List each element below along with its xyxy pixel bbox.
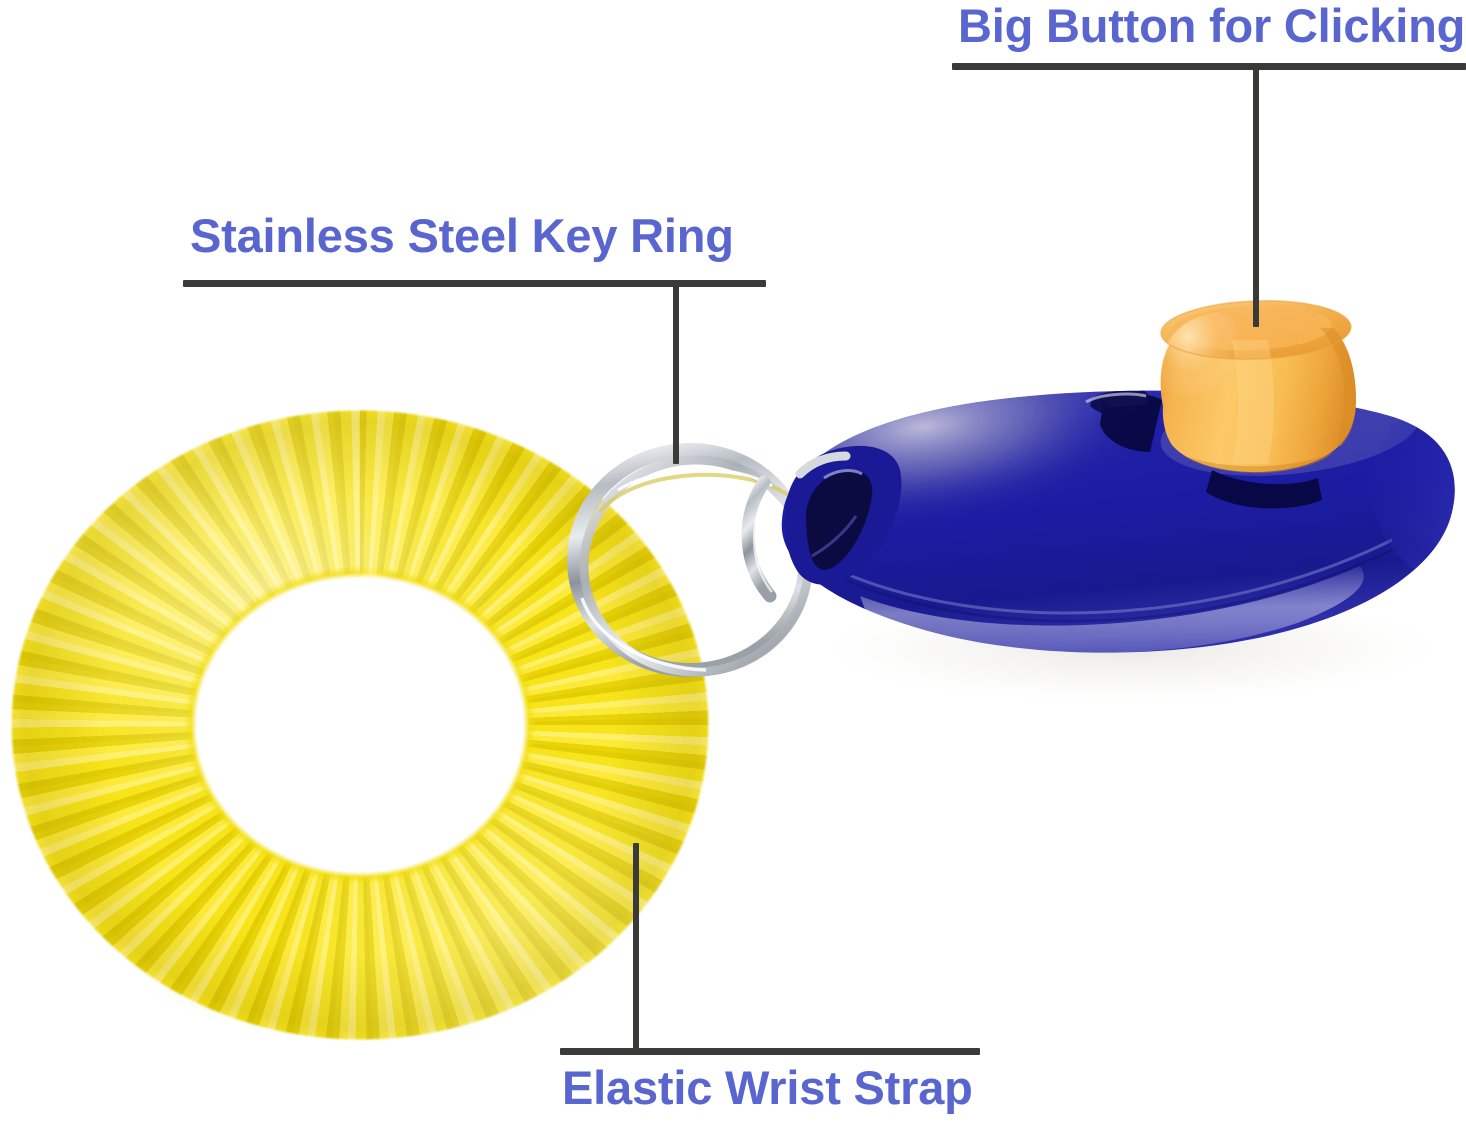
callout-leader-big-button — [1253, 63, 1259, 327]
callout-leader-wrist-strap — [633, 843, 639, 1049]
key-ring-front-arc — [748, 482, 770, 596]
clicker-illustration — [0, 0, 1466, 1134]
callout-label-wrist-strap: Elastic Wrist Strap — [562, 1064, 973, 1112]
callout-rule-big-button — [952, 63, 1466, 70]
callout-leader-key-ring — [673, 280, 679, 464]
stainless-steel-key-ring — [574, 450, 808, 672]
key-ring-inner-wire — [584, 460, 808, 672]
callout-label-key-ring: Stainless Steel Key Ring — [190, 212, 734, 260]
callout-rule-wrist-strap — [560, 1048, 980, 1055]
product-photo-canvas: Big Button for Clicking Stainless Steel … — [0, 0, 1466, 1134]
callout-label-big-button: Big Button for Clicking — [958, 2, 1465, 50]
